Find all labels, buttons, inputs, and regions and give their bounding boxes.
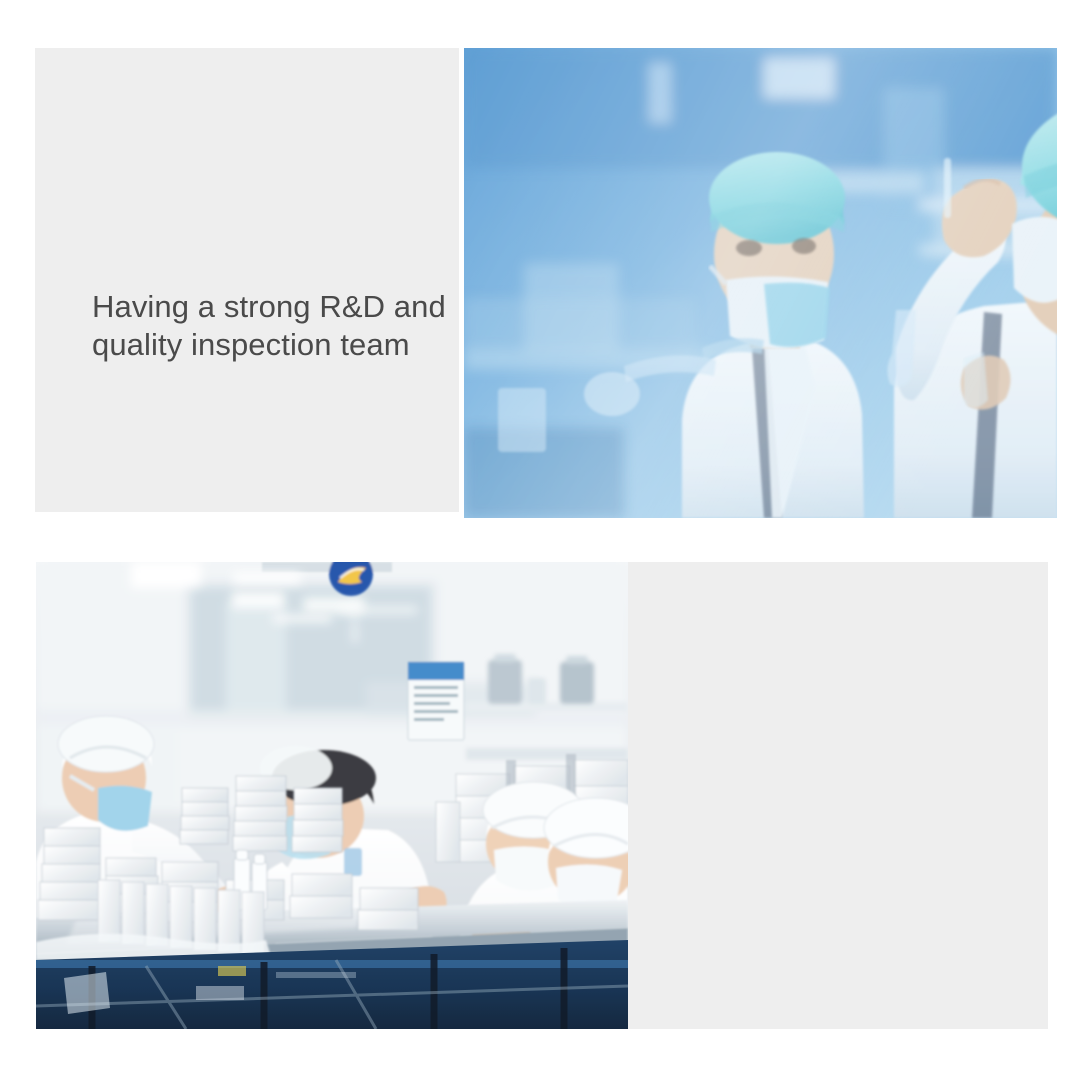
photo-warehouse-packing	[36, 562, 628, 1029]
section-warehouse: a warehouse distribution area a warehous…	[0, 540, 1080, 1080]
caption-panel-rd-quality: Having a strong R&D and quality inspecti…	[35, 48, 459, 512]
slide-root: Having a strong R&D and quality inspecti…	[0, 0, 1080, 1080]
caption-rd-quality: Having a strong R&D and quality inspecti…	[92, 288, 482, 364]
photo-lab-inspection-graphic	[464, 48, 1057, 518]
photo-warehouse-packing-graphic	[36, 562, 628, 1029]
section-rd-quality: Having a strong R&D and quality inspecti…	[0, 0, 1080, 540]
caption-panel-warehouse: a warehouse distribution area a warehous…	[628, 562, 1048, 1029]
photo-lab-inspection	[464, 48, 1057, 518]
